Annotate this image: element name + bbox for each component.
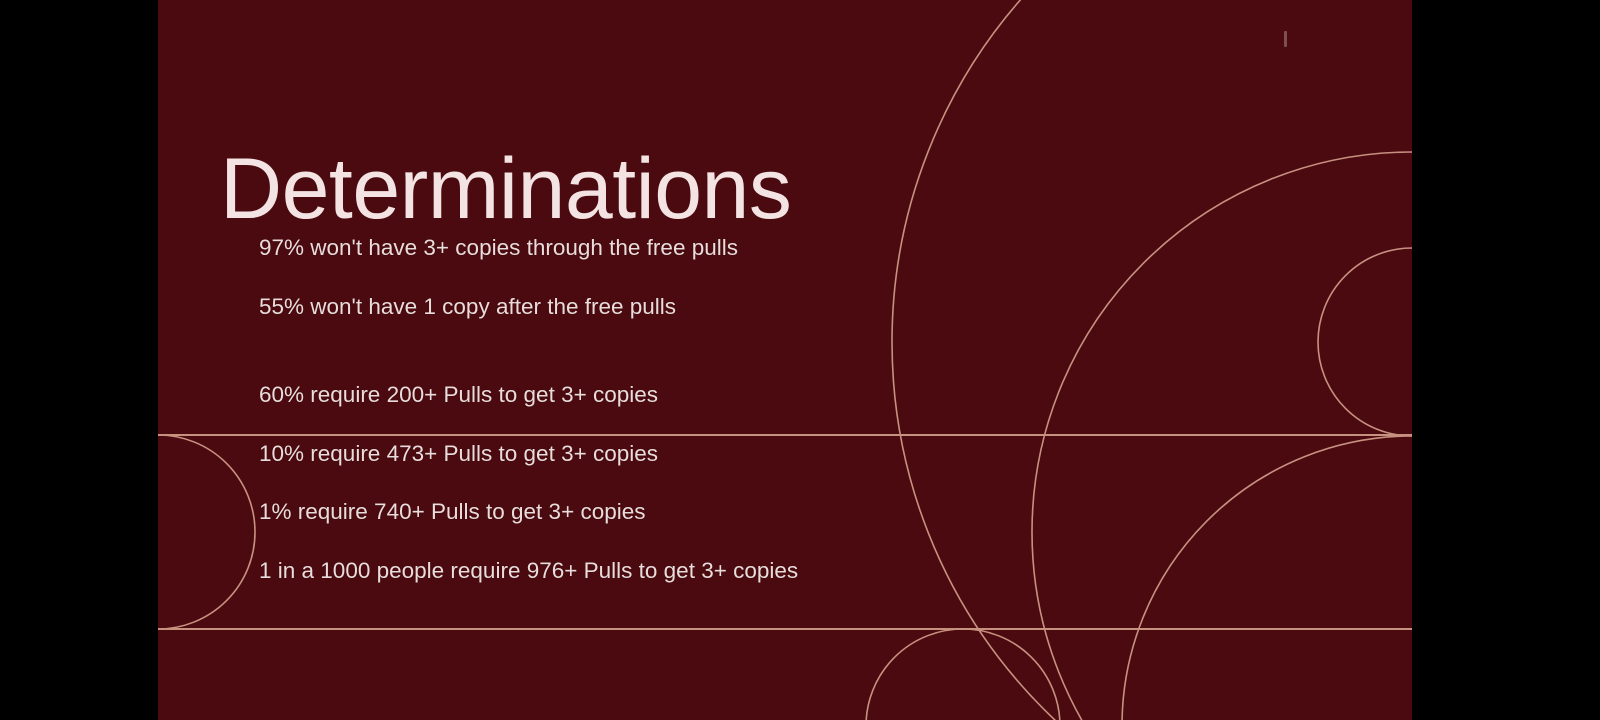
slide-title: Determinations bbox=[220, 144, 791, 234]
bullet-line: 60% require 200+ Pulls to get 3+ copies bbox=[259, 384, 1309, 407]
presentation-viewport: Determinations 97% won't have 3+ copies … bbox=[0, 0, 1600, 720]
bullet-group-secondary: 60% require 200+ Pulls to get 3+ copies … bbox=[259, 384, 1309, 582]
bullet-line: 55% won't have 1 copy after the free pul… bbox=[259, 296, 1259, 319]
slide-canvas[interactable]: Determinations 97% won't have 3+ copies … bbox=[158, 0, 1412, 720]
letterbox-bar-right bbox=[1412, 0, 1600, 720]
bullet-group-primary: 97% won't have 3+ copies through the fre… bbox=[259, 237, 1259, 318]
bullet-line: 1% require 740+ Pulls to get 3+ copies bbox=[259, 501, 1309, 524]
letterbox-bar-left bbox=[0, 0, 158, 720]
decor-circle-top-right-small bbox=[1318, 248, 1412, 436]
decor-circle-bottom-small bbox=[866, 629, 1060, 720]
bullet-line: 97% won't have 3+ copies through the fre… bbox=[259, 237, 1259, 260]
decor-circle-left-edge bbox=[158, 435, 255, 629]
slide-decoration-graphic bbox=[158, 0, 1412, 720]
bullet-line: 1 in a 1000 people require 976+ Pulls to… bbox=[259, 560, 1309, 583]
bullet-line: 10% require 473+ Pulls to get 3+ copies bbox=[259, 443, 1309, 466]
decor-circle-upper-large bbox=[892, 0, 1412, 720]
text-caret-artifact bbox=[1284, 31, 1287, 47]
